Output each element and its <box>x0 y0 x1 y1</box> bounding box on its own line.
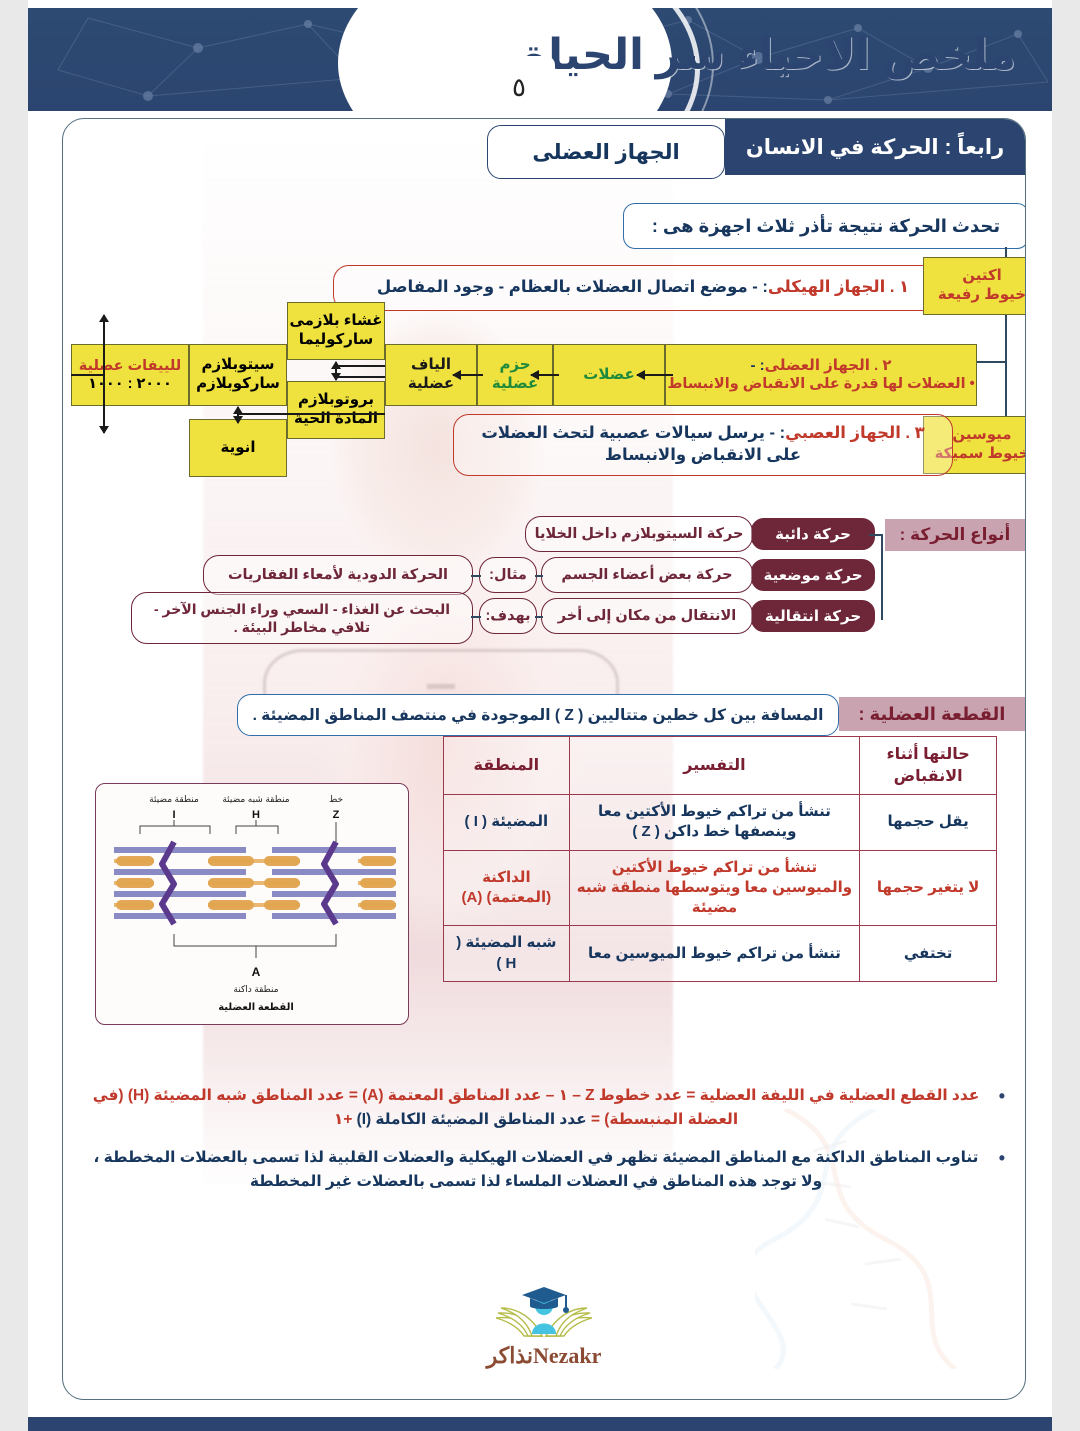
cell-region-3: شبه المضيئة ( H ) <box>444 926 570 982</box>
movement-type-3: حركة انتقالية <box>751 600 875 632</box>
arrow-bundles-to-fibers <box>531 374 559 376</box>
arrow-muscles-to-bundles <box>637 374 673 376</box>
subsystem-pill-label: الجهاز العضلى <box>532 140 679 165</box>
fig-label-i-top: منطقة مضيئة <box>149 794 199 804</box>
right-gutter <box>1052 0 1080 1431</box>
movement-link-3b <box>471 616 481 618</box>
th-explanation: التفسير <box>569 737 860 795</box>
sarcomere-label: القطعة العضلية : <box>839 697 1025 731</box>
system-muscular: ٢ . الجهاز العضلى: - • العضلات لها قدرة … <box>665 344 977 406</box>
footer-brand-arabic: نذاكر <box>487 1343 533 1368</box>
system-nervous-body: : - يرسل سيالات عصبية لتحث العضلات على ا… <box>481 424 801 464</box>
movement-connector-1 <box>869 534 883 536</box>
chain-box-actin: اكتين خيوط رفيعة <box>923 257 1026 315</box>
notes-block: عدد القطع العضلية في الليفة العضلية = عد… <box>85 1084 1005 1194</box>
cell-state-3: تختفي <box>860 926 997 982</box>
system-muscular-label: ٢ . الجهاز العضلى: - <box>750 357 891 376</box>
footer-logo: Nezakrنذاكر <box>63 1276 1025 1369</box>
subsystem-pill: الجهاز العضلى <box>487 125 725 179</box>
movement-bracket <box>881 534 883 620</box>
movement-desc-2: حركة بعض أعضاء الجسم <box>541 557 753 593</box>
sarcomere-definition: المسافة بين كل خطين متتاليين ( Z ) الموج… <box>237 694 839 736</box>
cell-state-1: يقل حجمها <box>860 795 997 851</box>
movement-link-2a <box>535 575 543 577</box>
note-count-part2: عدد المناطق المضيئة الكاملة (I) <box>357 1111 587 1128</box>
table-row: لا يتغير حجمها تنشأ من تراكم خيوط الأكتي… <box>444 850 997 926</box>
chain-box-nucleus: انوية <box>189 419 287 477</box>
page-number: ٥ <box>512 73 526 103</box>
fork-stem <box>71 374 105 376</box>
sarcomere-diagram: منطقة مضيئة منطقة شبه مضيئة خط I H Z <box>95 783 409 1025</box>
page-root: ملخص الاحياء سر الحياة ٥ رابعاً : الحركة… <box>0 0 1080 1431</box>
page-number-tab: ٥ <box>483 56 555 111</box>
cell-state-2: لا يتغير حجمها <box>860 850 997 926</box>
movement-type-1: حركة دائبة <box>751 518 875 550</box>
chain-box-membrane: غشاء بلازمى ساركوليما <box>287 302 385 360</box>
note-count-part3: +١ <box>334 1111 357 1128</box>
intro-statement: تحدث الحركة نتيجة تأذر ثلاث اجهزة هى : <box>623 203 1026 249</box>
system-muscular-bullet: • العضلات لها قدرة على الانقباض والانبسا… <box>667 375 974 393</box>
left-gutter <box>0 0 28 1431</box>
page-title: ملخص الاحياء سر الحياة <box>523 30 1016 80</box>
movement-connector-label-3: بهدف: <box>479 598 537 634</box>
cell-region-1: المضيئة ( I ) <box>444 795 570 851</box>
chain-box-protoplasm: بروتوبلازم المادة الحية <box>287 381 385 439</box>
cell-region-2: الداكنة (المعتمة) (A) <box>444 850 570 926</box>
fork-vertical <box>103 315 105 433</box>
connector-membrane-fibers-b <box>337 376 385 378</box>
fig-caption: القطعة العضلية <box>218 1002 294 1013</box>
arrow-fibers-in <box>453 374 483 376</box>
movement-types-label: أنواع الحركة : <box>885 519 1025 551</box>
table-row: يقل حجمها تنشأ من تراكم خيوط الأكتين معا… <box>444 795 997 851</box>
section-tab: رابعاً : الحركة في الانسان <box>725 119 1025 175</box>
movement-link-2b <box>471 575 481 577</box>
system-skeletal-text: ١ . الجهاز الهيكلى: - موضع اتصال العضلات… <box>377 277 909 299</box>
note-striated-text: تناوب المناطق الداكنة مع المناطق المضيئة… <box>94 1149 979 1190</box>
chain-box-cytoplasm: سيتوبلازم ساركوبلازم <box>189 344 287 406</box>
fork-arrow-myosin <box>103 432 105 433</box>
movement-detail-2: الحركة الدودية لأمعاء الفقاريات <box>203 555 473 595</box>
connector-proto-nucleus <box>237 413 385 415</box>
sarcomere-svg: منطقة مضيئة منطقة شبه مضيئة خط I H Z <box>96 784 408 1024</box>
fig-label-z: Z <box>333 809 340 821</box>
th-state: حالتها أثناء الانقباض <box>860 737 997 795</box>
fig-label-i: I <box>172 809 175 821</box>
system-nervous: ٣ . الجهاز العصبي: - يرسل سيالات عصبية ل… <box>453 414 953 476</box>
bottom-accent-bar <box>28 1417 1052 1431</box>
system-nervous-label: ٣ . الجهاز العصبي <box>785 424 925 442</box>
movement-desc-3: الانتقال من مكان إلى أخر <box>541 598 753 634</box>
movement-link-3a <box>535 616 543 618</box>
system-skeletal-body: : - موضع اتصال العضلات بالعظام - وجود ال… <box>377 278 768 296</box>
fig-label-z-top: خط <box>329 794 343 804</box>
nezakr-book-graduate-icon <box>484 1276 604 1344</box>
note-striated: تناوب المناطق الداكنة مع المناطق المضيئة… <box>85 1146 1005 1194</box>
cell-explanation-3: تنشأ من تراكم خيوط الميوسين معا <box>569 926 860 982</box>
arrow-cytoplasm-nucleus <box>237 407 239 423</box>
intro-text: تحدث الحركة نتيجة تأذر ثلاث اجهزة هى : <box>652 216 1000 237</box>
table-row: تختفي تنشأ من تراكم خيوط الميوسين معا شب… <box>444 926 997 982</box>
cell-explanation-2: تنشأ من تراكم خيوط الأكتين والميوسين معا… <box>569 850 860 926</box>
fig-label-h: H <box>252 809 260 821</box>
movement-connector-label-2: مثال: <box>479 557 537 593</box>
movement-desc-1: حركة السيتوبلازم داخل الخلايا <box>525 516 753 552</box>
th-region: المنطقة <box>444 737 570 795</box>
cell-explanation-1: تنشأ من تراكم خيوط الأكتين معا وينصفها خ… <box>569 795 860 851</box>
footer-brand: Nezakrنذاكر <box>63 1343 1025 1369</box>
system-skeletal: ١ . الجهاز الهيكلى: - موضع اتصال العضلات… <box>333 265 953 311</box>
note-count: عدد القطع العضلية في الليفة العضلية = عد… <box>85 1084 1005 1132</box>
table-header-row: حالتها أثناء الانقباض التفسير المنطقة <box>444 737 997 795</box>
fork-arrow-actin <box>103 315 105 316</box>
header-banner: ملخص الاحياء سر الحياة ٥ <box>28 8 1052 111</box>
system-skeletal-label: ١ . الجهاز الهيكلى <box>768 278 909 296</box>
sarcomere-table: حالتها أثناء الانقباض التفسير المنطقة يق… <box>443 736 997 982</box>
connector-membrane-fibers-a <box>337 365 385 367</box>
section-tab-label: رابعاً : الحركة في الانسان <box>746 135 1004 160</box>
fig-label-a: A <box>252 965 261 979</box>
fig-label-a-sub: منطقة داكنة <box>233 984 278 994</box>
movement-type-2: حركة موضعية <box>751 559 875 591</box>
content-card: رابعاً : الحركة في الانسان الجهاز العضلى… <box>62 118 1026 1400</box>
footer-brand-latin: Nezakr <box>533 1343 601 1368</box>
fig-label-h-top: منطقة شبه مضيئة <box>222 794 289 804</box>
movement-detail-3: البحث عن الغذاء - السعي وراء الجنس الآخر… <box>131 592 473 644</box>
